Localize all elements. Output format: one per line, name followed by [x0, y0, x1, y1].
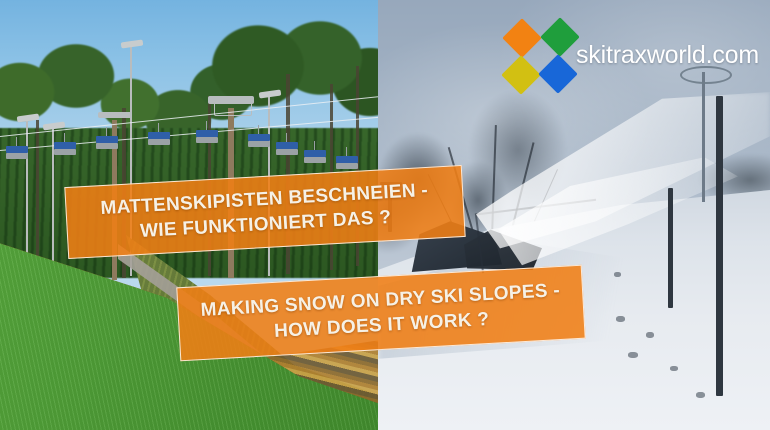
snow-debris	[628, 352, 638, 358]
headline-text-german: MATTENSKIPISTEN BESCHNEIEN - WIE FUNKTIO…	[90, 177, 440, 246]
green-diamond-icon	[540, 17, 580, 57]
snow-debris	[670, 366, 678, 371]
slope-pole	[716, 96, 723, 396]
site-logo[interactable]: skitraxworld.com	[498, 16, 766, 94]
chairlift-seat	[96, 136, 118, 151]
headline-text-english: MAKING SNOW ON DRY SKI SLOPES - HOW DOES…	[190, 277, 572, 348]
chairlift-seat	[276, 142, 298, 157]
tree-trunk	[36, 120, 39, 270]
slope-pole	[668, 188, 673, 308]
yellow-diamond-icon	[501, 55, 541, 95]
snow-debris	[646, 332, 654, 338]
orange-diamond-icon	[502, 18, 542, 58]
snow-debris	[616, 316, 625, 322]
chairlift-seat	[6, 146, 28, 161]
snow-debris	[696, 392, 705, 398]
snow-debris	[614, 272, 621, 277]
brand-name: skitraxworld.com	[576, 43, 759, 68]
chairlift-seat	[54, 142, 76, 157]
chairlift-seat	[248, 134, 270, 149]
chairlift-seat	[196, 130, 218, 145]
promo-banner-image: skitraxworld.com MATTENSKIPISTEN BESCHNE…	[0, 0, 770, 430]
lift-pylon-head	[98, 112, 132, 118]
chairlift-seat	[304, 150, 326, 165]
chairlift-seat	[148, 132, 170, 147]
blue-diamond-icon	[538, 54, 578, 94]
chairlift-seat	[336, 156, 358, 171]
